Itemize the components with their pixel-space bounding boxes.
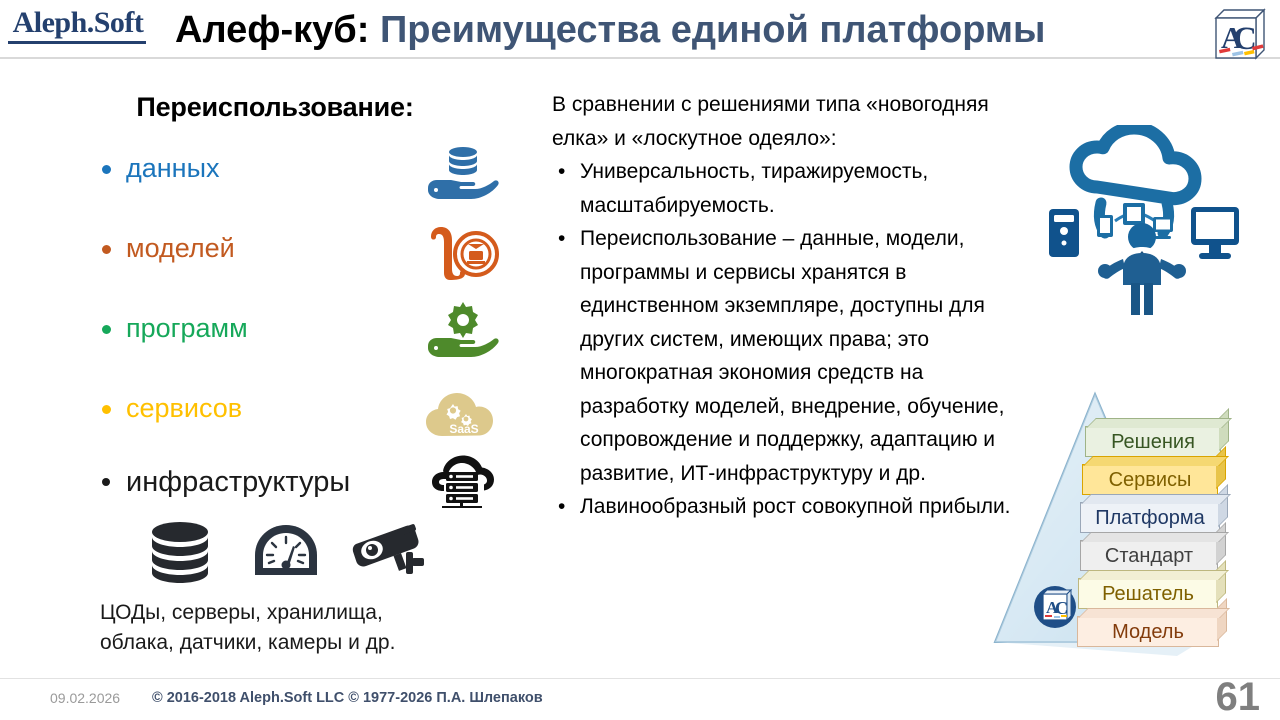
slide: Aleph.Soft Алеф-куб: Преимущества единой…	[0, 0, 1280, 720]
aleph-soft-logo-text: Aleph.Soft	[8, 6, 148, 40]
integral-model-icon	[420, 220, 530, 300]
list-item: данных	[98, 148, 428, 228]
page-title-primary: Алеф-куб:	[175, 9, 369, 51]
reuse-heading: Переиспользование:	[110, 92, 440, 123]
platform-pyramid: A C Решения Сервисы Платформа	[985, 390, 1275, 670]
aleph-soft-logo: Aleph.Soft	[8, 6, 148, 50]
pyramid-layer-label-1: Сервисы	[1109, 469, 1192, 491]
layer-top	[1081, 494, 1231, 504]
comparison-bullet-1: Переиспользование – данные, модели, прог…	[552, 222, 1022, 490]
pyramid-layer-4: Решатель	[1078, 578, 1218, 609]
layer-top	[1083, 456, 1229, 466]
infrastructure-caption-line2: облака, датчики, камеры и др.	[100, 628, 520, 658]
cloud-server-icon	[428, 452, 494, 513]
header-divider	[0, 57, 1280, 59]
bullet-dot	[102, 325, 111, 334]
cloud-computing-illustration	[1035, 125, 1250, 315]
pyramid-layer-label-2: Платформа	[1095, 507, 1204, 529]
layer-top	[1081, 532, 1229, 542]
infrastructure-label: инфраструктуры	[126, 460, 350, 504]
infrastructure-caption: ЦОДы, серверы, хранилища, облака, датчик…	[100, 598, 520, 658]
comparison-intro: В сравнении с решениями типа «новогодняя…	[552, 88, 1022, 155]
pyramid-layer-label-4: Решатель	[1102, 583, 1194, 605]
footer-copyright: © 2016-2018 Aleph.Soft LLC © 1977-2026 П…	[152, 690, 543, 706]
aleph-cube-badge-icon: A C	[1033, 585, 1077, 634]
footer-divider	[0, 678, 1280, 679]
bullet-dot	[102, 405, 111, 414]
list-item: сервисов	[98, 388, 428, 468]
bullet-dot	[102, 245, 111, 254]
comparison-text-block: В сравнении с решениями типа «новогодняя…	[552, 88, 1022, 524]
pyramid-layer-label-3: Стандарт	[1105, 545, 1193, 567]
page-title-secondary: Преимущества единой платформы	[369, 9, 1045, 51]
pyramid-layer-label-0: Решения	[1111, 431, 1195, 453]
database-stack-icon	[145, 520, 215, 591]
comparison-bullet-0: Универсальность, тиражируемость, масштаб…	[552, 155, 1022, 222]
reuse-icon-column: SaaS	[420, 140, 530, 460]
security-camera-icon	[350, 524, 430, 587]
pyramid-layer-5: Модель	[1077, 616, 1219, 647]
reuse-item-label-0: данных	[126, 148, 220, 188]
reuse-item-label-3: сервисов	[126, 388, 242, 428]
bullet-dot	[102, 478, 110, 486]
page-number: 61	[1216, 675, 1261, 720]
saas-cloud-icon: SaaS	[420, 380, 530, 460]
aleph-cube-logo: A C	[1208, 4, 1272, 66]
hand-holding-database-icon	[420, 140, 530, 220]
footer-date: 09.02.2026	[50, 690, 120, 706]
svg-text:SaaS: SaaS	[449, 422, 478, 436]
layer-top	[1079, 570, 1229, 580]
reuse-item-label-2: программ	[126, 308, 248, 348]
gauge-icon	[251, 521, 321, 588]
infrastructure-sub-icons	[145, 518, 425, 590]
pyramid-layer-2: Платформа	[1080, 502, 1220, 533]
layer-top	[1086, 418, 1232, 428]
pyramid-layer-3: Стандарт	[1080, 540, 1218, 571]
infrastructure-caption-line1: ЦОДы, серверы, хранилища,	[100, 598, 520, 628]
page-title: Алеф-куб: Преимущества единой платформы	[175, 5, 1155, 55]
pyramid-layer-label-5: Модель	[1112, 621, 1184, 643]
hand-holding-gear-icon	[420, 300, 530, 380]
list-item: моделей	[98, 228, 428, 308]
pyramid-layer-1: Сервисы	[1082, 464, 1218, 495]
comparison-bullet-2: Лавинообразный рост совокупной прибыли.	[552, 490, 1022, 524]
reuse-bullet-list: данных моделей программ сервисов	[98, 148, 428, 468]
reuse-item-label-1: моделей	[126, 228, 235, 268]
pyramid-layer-0: Решения	[1085, 426, 1221, 457]
bullet-dot	[102, 165, 111, 174]
list-item: программ	[98, 308, 428, 388]
aleph-soft-logo-underline	[8, 41, 146, 44]
layer-top	[1078, 608, 1230, 618]
